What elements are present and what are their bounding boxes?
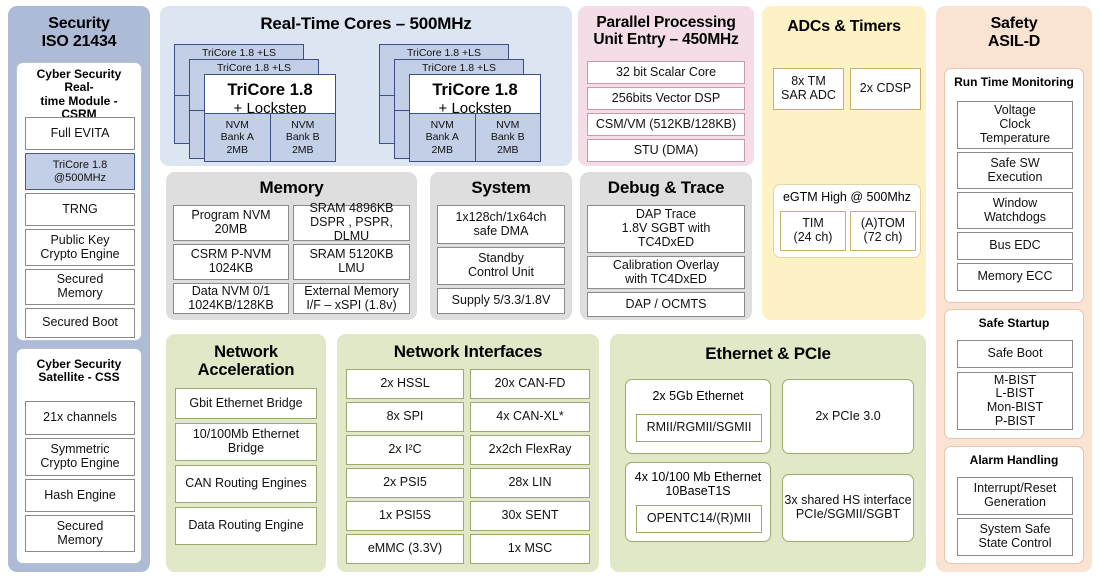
rtm-item-voltage-clock-temp[interactable]: VoltageClockTemperature — [957, 101, 1073, 149]
css-title-line1: Cyber Security — [21, 358, 137, 371]
system-item-dma[interactable]: 1x128ch/1x64chsafe DMA — [437, 205, 565, 244]
safety-title: Safety ASIL-D — [936, 6, 1092, 51]
group-egtm: eGTM High @ 500Mhz TIM(24 ch) (A)TOM(72 … — [773, 184, 921, 258]
netaccel-item-data-routing-engine[interactable]: Data Routing Engine — [175, 507, 317, 545]
debug-item-label: DAP / OCMTS — [625, 298, 706, 312]
pcie-label: 2x PCIe 3.0 — [815, 410, 880, 424]
tricore-front-title: TriCore 1.8 + Lockstep — [410, 75, 540, 117]
tricore-ls-label: TriCore 1.8 +LS — [395, 60, 523, 75]
eth-10-100-sub[interactable]: OPENTC14/(R)MII — [636, 505, 762, 533]
group-csrm: Cyber Security Real- time Module - CSRM … — [16, 62, 142, 341]
netif-item-hssl[interactable]: 2x HSSL — [346, 369, 464, 399]
netif-item-label: 1x PSI5S — [379, 509, 431, 523]
eth-5gb-sub-label: RMII/RGMII/SGMII — [647, 421, 752, 435]
network-acceleration-title: Network Acceleration — [166, 334, 326, 380]
eth-5gb-sub[interactable]: RMII/RGMII/SGMII — [636, 414, 762, 442]
system-item-label: Supply 5/3.3/1.8V — [452, 294, 551, 308]
safety-title-line1: Safety — [936, 15, 1092, 33]
memory-item-label: CSRM P-NVM1024KB — [191, 248, 272, 276]
rtm-item-label: Bus EDC — [989, 239, 1040, 253]
netif-item-label: 30x SENT — [502, 509, 559, 523]
rtm-item-label: WindowWatchdogs — [984, 197, 1046, 225]
css-item-secured-memory[interactable]: SecuredMemory — [25, 515, 135, 552]
rtm-item-memory-ecc[interactable]: Memory ECC — [957, 263, 1073, 291]
netif-item-label: 1x MSC — [508, 542, 552, 556]
tricore-ls-label: TriCore 1.8 +LS — [175, 45, 303, 60]
network-interfaces-title: Network Interfaces — [337, 334, 599, 361]
tricore-nvm-bank-b: NVMBank B2MB — [270, 114, 336, 161]
ppu-item-label: 32 bit Scalar Core — [616, 66, 716, 80]
csrm-item-label: TriCore 1.8@500MHz — [53, 159, 108, 183]
csrm-title-line1: Cyber Security Real- — [21, 68, 137, 95]
panel-safety: Safety ASIL-D Run Time Monitoring Voltag… — [936, 6, 1092, 572]
netif-item-i2c[interactable]: 2x I²C — [346, 435, 464, 465]
security-title-line1: Security — [8, 15, 150, 33]
system-item-standby-control[interactable]: StandbyControl Unit — [437, 247, 565, 285]
csrm-item-label: Secured Boot — [42, 316, 118, 330]
netif-item-sent[interactable]: 30x SENT — [470, 501, 590, 531]
safe-startup-item-bist[interactable]: M-BISTL-BISTMon-BISTP-BIST — [957, 372, 1073, 430]
css-item-label: SymmetricCrypto Engine — [40, 443, 119, 471]
ppu-title: Parallel Processing Unit Entry – 450MHz — [578, 6, 754, 49]
adc-item-label: 8x TMSAR ADC — [781, 75, 836, 103]
css-item-channels[interactable]: 21x channels — [25, 401, 135, 435]
egtm-title: eGTM High @ 500Mhz — [774, 185, 920, 204]
css-title-line2: Satellite - CSS — [21, 371, 137, 384]
adcs-timers-title: ADCs & Timers — [762, 6, 926, 36]
eth-5gb-block[interactable]: 2x 5Gb Ethernet RMII/RGMII/SGMII — [625, 379, 771, 454]
safety-title-line2: ASIL-D — [936, 33, 1092, 51]
csrm-item-label: TRNG — [62, 203, 97, 217]
memory-item-label: Data NVM 0/11024KB/128KB — [188, 285, 274, 313]
csrm-item-label: Public KeyCrypto Engine — [40, 234, 119, 262]
csrm-item-label: SecuredMemory — [57, 273, 104, 301]
tricore-ls-label: TriCore 1.8 +LS — [190, 60, 318, 75]
rtm-item-safe-sw-execution[interactable]: Safe SWExecution — [957, 152, 1073, 189]
ppu-title-line2: Unit Entry – 450MHz — [578, 31, 754, 48]
netif-item-psi5s[interactable]: 1x PSI5S — [346, 501, 464, 531]
ppu-item-label: STU (DMA) — [634, 144, 699, 158]
netif-item-label: eMMC (3.3V) — [368, 542, 442, 556]
security-title: Security ISO 21434 — [8, 6, 150, 51]
shared-hs-block[interactable]: 3x shared HS interfacePCIe/SGMII/SGBT — [782, 474, 914, 542]
ppu-item-csm-vm[interactable]: CSM/VM (512KB/128KB) — [587, 113, 745, 136]
safe-startup-item-label: Safe Boot — [988, 347, 1043, 361]
css-title: Cyber Security Satellite - CSS — [17, 349, 141, 387]
egtm-item-tim[interactable]: TIM(24 ch) — [780, 211, 846, 251]
tricore-nvm-bank-a: NVMBank A2MB — [205, 114, 270, 161]
tricore-nvm-bank-b: NVMBank B2MB — [475, 114, 541, 161]
css-item-symmetric-crypto[interactable]: SymmetricCrypto Engine — [25, 438, 135, 476]
tricore-nvm-bank-a: NVMBank A2MB — [410, 114, 475, 161]
memory-title: Memory — [166, 172, 417, 197]
netif-item-label: 2x I²C — [388, 443, 421, 457]
rtm-item-label: VoltageClockTemperature — [980, 104, 1050, 145]
security-title-line2: ISO 21434 — [8, 33, 150, 51]
debug-item-dap-ocmts[interactable]: DAP / OCMTS — [587, 292, 745, 317]
alarm-handling-title: Alarm Handling — [945, 447, 1083, 470]
memory-item-label: External MemoryI/F – xSPI (1.8v) — [304, 285, 398, 313]
egtm-item-atom[interactable]: (A)TOM(72 ch) — [850, 211, 916, 251]
memory-item-external-memory[interactable]: External MemoryI/F – xSPI (1.8v) — [293, 283, 410, 314]
block-diagram-canvas: Security ISO 21434 Cyber Security Real- … — [0, 0, 1099, 579]
run-time-monitoring-title: Run Time Monitoring — [945, 69, 1083, 92]
group-css: Cyber Security Satellite - CSS 21x chann… — [16, 348, 142, 564]
shared-hs-label: 3x shared HS interfacePCIe/SGMII/SGBT — [784, 494, 911, 522]
tricore-front-title: TriCore 1.8 + Lockstep — [205, 75, 335, 117]
debug-item-calibration-overlay[interactable]: Calibration Overlaywith TC4DxED — [587, 256, 745, 289]
memory-item-program-nvm[interactable]: Program NVM20MB — [173, 205, 289, 241]
debug-item-label: Calibration Overlaywith TC4DxED — [613, 259, 719, 287]
memory-item-data-nvm[interactable]: Data NVM 0/11024KB/128KB — [173, 283, 289, 314]
panel-ethernet-pcie: Ethernet & PCIe 2x 5Gb Ethernet RMII/RGM… — [610, 334, 926, 572]
alarm-item-system-safe-state[interactable]: System SafeState Control — [957, 518, 1073, 556]
safe-startup-item-safe-boot[interactable]: Safe Boot — [957, 340, 1073, 368]
safe-startup-item-label: M-BISTL-BISTMon-BISTP-BIST — [987, 374, 1043, 429]
tricore-stack-2-front[interactable]: TriCore 1.8 + Lockstep NVMBank A2MB NVMB… — [409, 74, 541, 162]
ppu-title-line1: Parallel Processing — [578, 14, 754, 31]
netaccel-item-gbit-ethernet-bridge[interactable]: Gbit Ethernet Bridge — [175, 388, 317, 419]
csrm-item-public-key-crypto[interactable]: Public KeyCrypto Engine — [25, 229, 135, 266]
tricore-front-title-line1: TriCore 1.8 — [205, 81, 335, 100]
tricore-stack-1-front[interactable]: TriCore 1.8 + Lockstep NVMBank A2MB NVMB… — [204, 74, 336, 162]
netaccel-item-can-routing-engines[interactable]: CAN Routing Engines — [175, 465, 317, 503]
tricore-ls-label: TriCore 1.8 +LS — [380, 45, 508, 60]
netif-item-emmc[interactable]: eMMC (3.3V) — [346, 534, 464, 564]
memory-item-csrm-pnvm[interactable]: CSRM P-NVM1024KB — [173, 244, 289, 280]
netif-item-label: 8x SPI — [387, 410, 424, 424]
adc-item-cdsp[interactable]: 2x CDSP — [850, 68, 921, 110]
tricore-nvm-row: NVMBank A2MB NVMBank B2MB — [205, 113, 335, 161]
safe-startup-title: Safe Startup — [945, 310, 1083, 333]
memory-item-label: SRAM 5120KBLMU — [309, 248, 393, 276]
netaccel-item-label: Gbit Ethernet Bridge — [189, 397, 302, 411]
netaccel-item-label: Data Routing Engine — [188, 519, 303, 533]
eth-10-100-sub-label: OPENTC14/(R)MII — [647, 512, 751, 526]
rtm-item-window-watchdogs[interactable]: WindowWatchdogs — [957, 192, 1073, 229]
adc-item-sar-adc[interactable]: 8x TMSAR ADC — [773, 68, 844, 110]
panel-security: Security ISO 21434 Cyber Security Real- … — [8, 6, 150, 572]
group-run-time-monitoring: Run Time Monitoring VoltageClockTemperat… — [944, 68, 1084, 303]
panel-realtime-cores: Real-Time Cores – 500MHz TriCore 1.8 +LS… — [160, 6, 572, 166]
ppu-item-stu-dma[interactable]: STU (DMA) — [587, 139, 745, 162]
netif-item-label: 2x PSI5 — [383, 476, 427, 490]
netif-item-can-fd[interactable]: 20x CAN-FD — [470, 369, 590, 399]
ppu-item-label: CSM/VM (512KB/128KB) — [596, 118, 736, 132]
group-alarm-handling: Alarm Handling Interrupt/ResetGeneration… — [944, 446, 1084, 564]
debug-trace-title: Debug & Trace — [580, 172, 752, 197]
panel-network-acceleration: Network Acceleration Gbit Ethernet Bridg… — [166, 334, 326, 572]
csrm-item-tricore[interactable]: TriCore 1.8@500MHz — [25, 153, 135, 190]
panel-adcs-timers: ADCs & Timers 8x TMSAR ADC 2x CDSP eGTM … — [762, 6, 926, 320]
netaccel-title-line1: Network — [166, 343, 326, 361]
css-item-label: SecuredMemory — [57, 520, 104, 548]
csrm-title: Cyber Security Real- time Module - CSRM — [17, 63, 141, 124]
tricore-nvm-row: NVMBank A2MB NVMBank B2MB — [410, 113, 540, 161]
eth-10-100-label: 4x 10/100 Mb Ethernet10BaseT1S — [626, 463, 770, 499]
netif-item-label: 4x CAN-XL* — [496, 410, 563, 424]
csrm-title-line2: time Module - — [21, 95, 137, 108]
netaccel-item-label: CAN Routing Engines — [185, 477, 307, 491]
system-item-supply[interactable]: Supply 5/3.3/1.8V — [437, 288, 565, 314]
rtm-item-bus-edc[interactable]: Bus EDC — [957, 232, 1073, 260]
netif-item-can-xl[interactable]: 4x CAN-XL* — [470, 402, 590, 432]
memory-item-sram-4896[interactable]: SRAM 4896KBDSPR , PSPR, DLMU — [293, 205, 410, 241]
system-item-label: 1x128ch/1x64chsafe DMA — [455, 211, 546, 239]
adc-item-label: 2x CDSP — [860, 82, 911, 96]
csrm-item-full-evita[interactable]: Full EVITA — [25, 117, 135, 150]
netif-item-lin[interactable]: 28x LIN — [470, 468, 590, 498]
panel-memory: Memory Program NVM20MB CSRM P-NVM1024KB … — [166, 172, 417, 320]
ppu-item-vector-dsp[interactable]: 256bits Vector DSP — [587, 87, 745, 110]
pcie-block[interactable]: 2x PCIe 3.0 — [782, 379, 914, 454]
alarm-item-interrupt-reset[interactable]: Interrupt/ResetGeneration — [957, 477, 1073, 515]
eth-10-100-block[interactable]: 4x 10/100 Mb Ethernet10BaseT1S OPENTC14/… — [625, 462, 771, 542]
panel-network-interfaces: Network Interfaces 2x HSSL 8x SPI 2x I²C… — [337, 334, 599, 572]
panel-parallel-processing: Parallel Processing Unit Entry – 450MHz … — [578, 6, 754, 166]
netaccel-item-label: 10/100Mb EthernetBridge — [193, 428, 299, 456]
memory-item-sram-5120[interactable]: SRAM 5120KBLMU — [293, 244, 410, 280]
debug-item-dap-trace[interactable]: DAP Trace1.8V SGBT withTC4DxED — [587, 205, 745, 253]
ppu-item-scalar-core[interactable]: 32 bit Scalar Core — [587, 61, 745, 84]
tricore-front-title-line1: TriCore 1.8 — [410, 81, 540, 100]
csrm-item-label: Full EVITA — [51, 127, 110, 141]
group-safe-startup: Safe Startup Safe Boot M-BISTL-BISTMon-B… — [944, 309, 1084, 439]
egtm-item-label: (A)TOM(72 ch) — [861, 217, 905, 245]
netif-item-label: 2x HSSL — [380, 377, 429, 391]
netif-item-flexray[interactable]: 2x2ch FlexRay — [470, 435, 590, 465]
csrm-item-secured-boot[interactable]: Secured Boot — [25, 308, 135, 338]
netif-item-label: 20x CAN-FD — [495, 377, 566, 391]
ethernet-pcie-title: Ethernet & PCIe — [610, 334, 926, 363]
system-item-label: StandbyControl Unit — [468, 252, 534, 280]
realtime-cores-title: Real-Time Cores – 500MHz — [160, 6, 572, 33]
alarm-item-label: System SafeState Control — [979, 523, 1052, 551]
netif-item-spi[interactable]: 8x SPI — [346, 402, 464, 432]
netif-item-label: 2x2ch FlexRay — [489, 443, 572, 457]
memory-item-label: SRAM 4896KBDSPR , PSPR, DLMU — [294, 202, 409, 243]
memory-item-label: Program NVM20MB — [191, 209, 270, 237]
netif-item-psi5[interactable]: 2x PSI5 — [346, 468, 464, 498]
panel-system: System 1x128ch/1x64chsafe DMA StandbyCon… — [430, 172, 572, 320]
csrm-item-secured-memory[interactable]: SecuredMemory — [25, 269, 135, 305]
eth-5gb-label: 2x 5Gb Ethernet — [626, 380, 770, 403]
egtm-item-label: TIM(24 ch) — [794, 217, 833, 245]
system-title: System — [430, 172, 572, 197]
netif-item-msc[interactable]: 1x MSC — [470, 534, 590, 564]
css-item-hash-engine[interactable]: Hash Engine — [25, 479, 135, 512]
csrm-item-trng[interactable]: TRNG — [25, 193, 135, 226]
panel-debug-trace: Debug & Trace DAP Trace1.8V SGBT withTC4… — [580, 172, 752, 320]
netaccel-item-10-100mb-ethernet-bridge[interactable]: 10/100Mb EthernetBridge — [175, 423, 317, 461]
debug-item-label: DAP Trace1.8V SGBT withTC4DxED — [622, 208, 711, 249]
ppu-item-label: 256bits Vector DSP — [612, 92, 720, 106]
alarm-item-label: Interrupt/ResetGeneration — [974, 482, 1057, 510]
rtm-item-label: Safe SWExecution — [988, 157, 1043, 185]
css-item-label: Hash Engine — [44, 489, 116, 503]
netaccel-title-line2: Acceleration — [166, 361, 326, 379]
netif-item-label: 28x LIN — [508, 476, 551, 490]
rtm-item-label: Memory ECC — [977, 270, 1052, 284]
css-item-label: 21x channels — [43, 411, 117, 425]
